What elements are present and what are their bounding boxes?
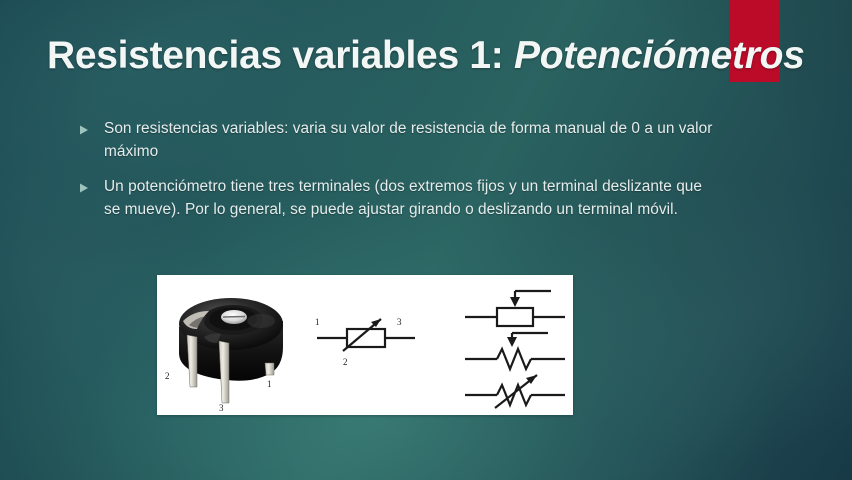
- potentiometer-zigzag-symbol: [465, 333, 565, 369]
- pin-label-1: 1: [267, 379, 272, 389]
- potentiometer-figure-panel: 2 1 3 1 3 2: [157, 275, 573, 415]
- pin-label-3: 3: [219, 403, 224, 413]
- list-item: Un potenciómetro tiene tres terminales (…: [78, 176, 718, 221]
- triangle-bullet-icon: [78, 118, 104, 136]
- potentiometer-box-symbol: [465, 291, 565, 326]
- page-title-main: Resistencias variables 1:: [47, 34, 514, 77]
- list-item: Son resistencias variables: varia su val…: [78, 118, 718, 163]
- terminal-label-3: 3: [397, 317, 402, 327]
- variable-resistor-symbol: 1 3 2: [315, 317, 415, 367]
- list-item-label: Son resistencias variables: varia su val…: [104, 118, 718, 163]
- variable-resistor-zigzag-symbol: [465, 375, 565, 408]
- potentiometer-figure: 2 1 3 1 3 2: [157, 275, 573, 415]
- list-item-label: Un potenciómetro tiene tres terminales (…: [104, 176, 718, 221]
- trimmer-potentiometer-photo: 2 1 3: [165, 298, 283, 413]
- page-title-emphasis: Potenciómetros: [514, 34, 805, 77]
- slide-canvas: Resistencias variables 1: Potenciómetros…: [0, 0, 852, 480]
- pin-label-2: 2: [165, 371, 170, 381]
- bullet-list: Son resistencias variables: varia su val…: [78, 118, 718, 234]
- terminal-label-2: 2: [343, 357, 348, 367]
- triangle-bullet-icon: [78, 176, 104, 194]
- page-title: Resistencias variables 1: Potenciómetros: [47, 32, 837, 80]
- terminal-label-1: 1: [315, 317, 320, 327]
